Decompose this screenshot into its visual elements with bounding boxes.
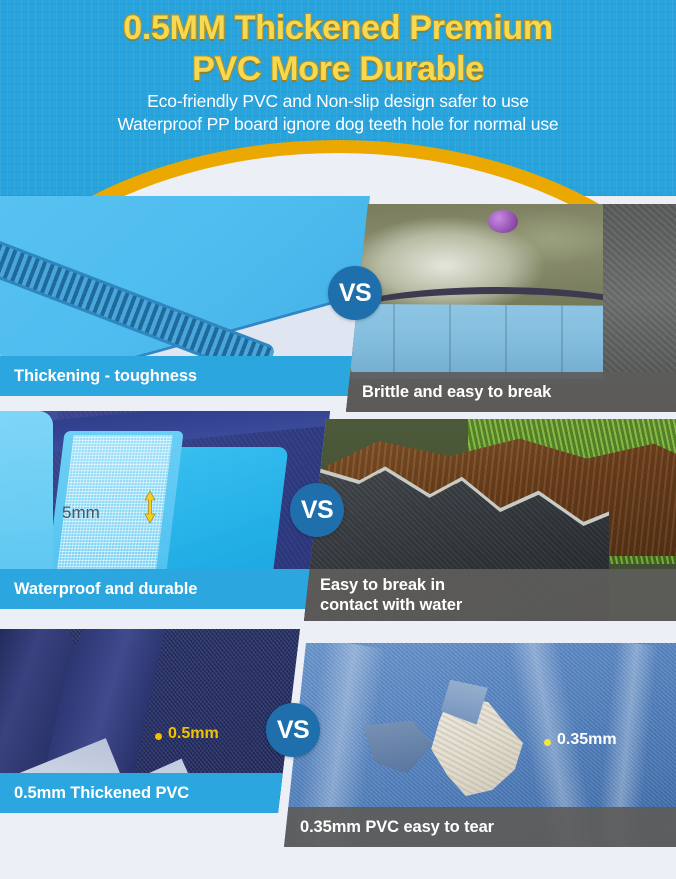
product-infographic: 0.5MM Thickened Premium PVC More Durable… xyxy=(0,0,676,879)
title-line-1: 0.5MM Thickened Premium xyxy=(0,8,676,49)
good-caption-waterproof: Waterproof and durable xyxy=(0,569,330,609)
good-caption-thickness: Thickening - toughness xyxy=(0,356,370,396)
bad-caption-water-break: Easy to break in contact with water xyxy=(304,569,676,621)
comparison-row-waterproof: Waterproof and durable Easy to break in … xyxy=(0,411,676,633)
bad-caption-brittle: Brittle and easy to break xyxy=(346,372,676,412)
bad-caption-035mm: 0.35mm PVC easy to tear xyxy=(284,807,676,847)
bad-panel-water-break: Easy to break in contact with water xyxy=(304,419,676,621)
good-panel-05mm: 0.5mm Thickened PVC xyxy=(0,629,300,813)
header-banner: 0.5MM Thickened Premium PVC More Durable… xyxy=(0,0,676,196)
comparison-row-thickness-mm: 0.5mm Thickened PVC 0.5mm 0.35mm PVC eas… xyxy=(0,629,676,879)
comparison-row-thickness: Thickening - toughness 5mm Brittle and e… xyxy=(0,196,676,418)
good-caption-05mm: 0.5mm Thickened PVC xyxy=(0,773,300,813)
comparison-rows: Thickening - toughness 5mm Brittle and e… xyxy=(0,196,676,879)
annotation-035mm: 0.35mm xyxy=(557,731,617,749)
pool-float-toy xyxy=(488,210,518,233)
good-panel-thickness: Thickening - toughness xyxy=(0,196,370,396)
bad-panel-035mm: 0.35mm PVC easy to tear xyxy=(284,643,676,847)
bad-caption-water-break-line-2: contact with water xyxy=(320,595,676,615)
thickness-arrow-icon xyxy=(144,490,156,524)
thickness-annotation-5mm: 5mm xyxy=(62,503,100,523)
subtitle-line-2: Waterproof PP board ignore dog teeth hol… xyxy=(0,113,676,136)
page-subtitle: Eco-friendly PVC and Non-slip design saf… xyxy=(0,90,676,135)
bad-caption-water-break-line-1: Easy to break in xyxy=(320,575,676,595)
subtitle-line-1: Eco-friendly PVC and Non-slip design saf… xyxy=(0,90,676,113)
dot-marker-035mm xyxy=(544,739,551,746)
bad-panel-brittle: Brittle and easy to break xyxy=(346,204,676,412)
vs-badge-row-3: VS xyxy=(266,703,320,757)
annotation-05mm: 0.5mm xyxy=(168,725,219,743)
torn-flap-left xyxy=(362,721,433,774)
vs-badge-row-1: VS xyxy=(328,266,382,320)
good-panel-waterproof: Waterproof and durable xyxy=(0,411,330,609)
dot-marker-05mm xyxy=(155,733,162,740)
page-title: 0.5MM Thickened Premium PVC More Durable xyxy=(0,8,676,90)
vs-badge-row-2: VS xyxy=(290,483,344,537)
title-line-2: PVC More Durable xyxy=(0,49,676,90)
